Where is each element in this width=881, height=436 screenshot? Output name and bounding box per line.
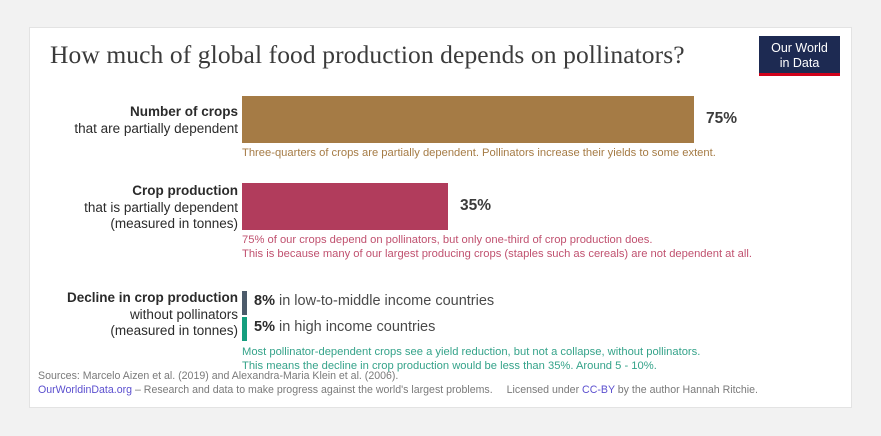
row-label-decline: Decline in crop production without polli… bbox=[30, 290, 238, 340]
owid-logo-line1: Our World bbox=[759, 41, 840, 56]
row-label-line2: that is partially dependent bbox=[84, 200, 238, 215]
bar-row-number-of-crops: Number of crops that are partially depen… bbox=[30, 96, 851, 168]
row-label-rest: that are partially dependent bbox=[74, 121, 238, 136]
bar-row-crop-production: Crop production that is partially depend… bbox=[30, 183, 851, 273]
row-label-line3: (measured in tonnes) bbox=[110, 323, 238, 338]
bar-value-crop-production: 35% bbox=[460, 197, 491, 215]
row-label-strong: Decline in crop production bbox=[67, 290, 238, 305]
footer-credits: OurWorldinData.org – Research and data t… bbox=[38, 383, 848, 397]
bar-value-number-of-crops: 75% bbox=[706, 110, 737, 128]
bar-decline-high-income[interactable] bbox=[242, 317, 247, 341]
row-label-number-of-crops: Number of crops that are partially depen… bbox=[30, 104, 238, 137]
row-label-strong: Number of crops bbox=[130, 104, 238, 119]
bar-decline-low-to-middle-income[interactable] bbox=[242, 291, 247, 315]
row-label-line3: (measured in tonnes) bbox=[110, 216, 238, 231]
owid-logo[interactable]: Our World in Data bbox=[759, 36, 840, 76]
row-label-line2: without pollinators bbox=[130, 307, 238, 322]
mini-value-high-income: 5% bbox=[254, 319, 275, 335]
chart-header: How much of global food production depen… bbox=[30, 28, 851, 84]
footer-tagline: – Research and data to make progress aga… bbox=[132, 384, 493, 396]
row-label-crop-production: Crop production that is partially depend… bbox=[30, 183, 238, 233]
footer-sources: Sources: Marcelo Aizen et al. (2019) and… bbox=[38, 369, 848, 383]
mini-label-high-income: 5% in high income countries bbox=[254, 319, 435, 335]
footer-license-suffix: by the author Hannah Ritchie. bbox=[615, 384, 758, 396]
owid-site-link[interactable]: OurWorldinData.org bbox=[38, 384, 132, 396]
page-title: How much of global food production depen… bbox=[50, 40, 685, 70]
mini-label-low-income: 8% in low-to-middle income countries bbox=[254, 293, 494, 309]
annotation-crop-production: 75% of our crops depend on pollinators, … bbox=[242, 234, 752, 261]
chart-card: How much of global food production depen… bbox=[29, 27, 852, 408]
cc-by-link[interactable]: CC-BY bbox=[582, 384, 615, 396]
annotation-number-of-crops: Three-quarters of crops are partially de… bbox=[242, 147, 716, 161]
mini-text-low-income: in low-to-middle income countries bbox=[275, 293, 494, 309]
bar-number-of-crops[interactable] bbox=[242, 96, 694, 143]
owid-logo-line2: in Data bbox=[759, 56, 840, 71]
mini-value-low-income: 8% bbox=[254, 293, 275, 309]
chart-footer: Sources: Marcelo Aizen et al. (2019) and… bbox=[38, 369, 848, 397]
bar-crop-production[interactable] bbox=[242, 183, 448, 230]
mini-text-high-income: in high income countries bbox=[275, 319, 435, 335]
row-label-strong: Crop production bbox=[132, 183, 238, 198]
footer-license-prefix: Licensed under bbox=[507, 384, 582, 396]
